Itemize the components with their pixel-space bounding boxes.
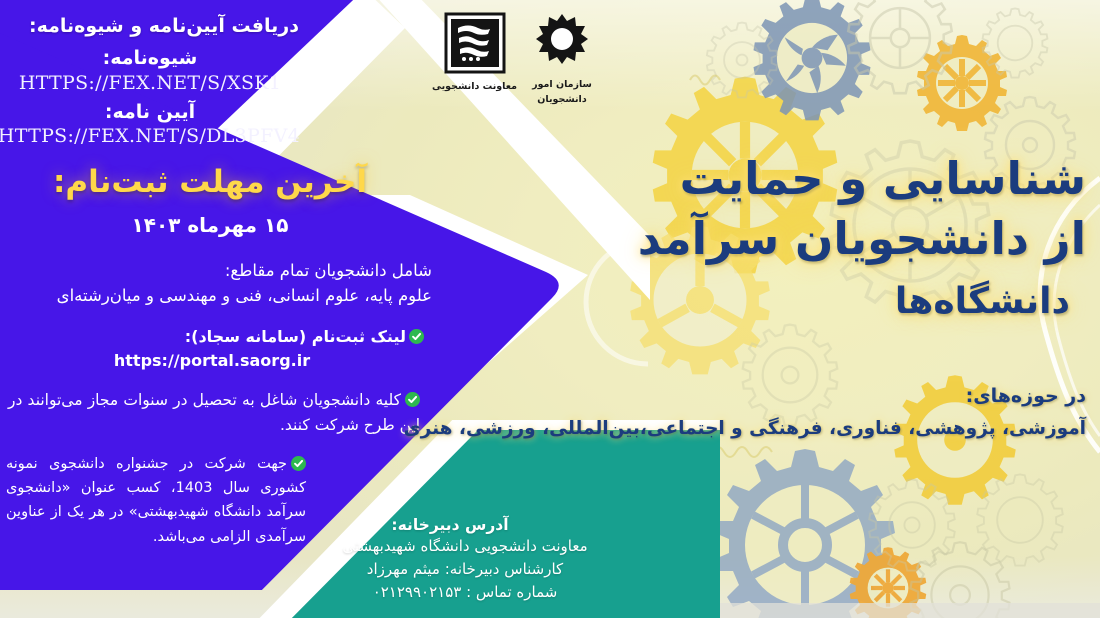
saorg-logo-caption-line2: دانشجویان [530,94,594,106]
contact-line-1: معاونت دانشجویی دانشگاه شهیدبهشتی [300,534,630,558]
main-title-line-2: از دانشجویان سرآمد [616,212,1086,267]
bullet-eligibility-text: کلیه دانشجویان شاغل به تحصیل در سنوات مج… [8,391,420,434]
check-circle-icon [405,391,420,406]
sbu-logo-caption: معاونت دانشجویی [432,81,517,93]
areas-list: آموزشی، پژوهشی، فناوری، فرهنگی و اجتماعی… [404,418,1086,439]
contact-line-3: شماره تماس : ۰۲۱۲۹۹۰۲۱۵۳ [300,580,630,604]
bullet-registration-link: لینک ثبت‌نام (سامانه سجاد): [0,326,424,348]
deadline-date: ۱۵ مهرماه ۱۴۰۳ [0,212,420,239]
areas-label: در حوزه‌های: [786,385,1086,407]
guideline-url[interactable]: HTTPS://FEX.NET/S/XSK1 [0,71,300,97]
bullet-festival-requirement-text: جهت شرکت در جشنواره دانشجوی نمونه کشوری … [6,456,306,545]
contact-line-2: کارشناس دبیرخانه: میثم مهرزاد [300,557,630,581]
scope-line-2: علوم پایه، علوم انسانی، فنی و مهندسی و م… [0,283,432,309]
scope-line-1: شامل دانشجویان تمام مقاطع: [0,258,432,284]
deadline-heading: آخرین مهلت ثبت‌نام: [0,162,420,204]
regulation-url[interactable]: HTTPS://FEX.NET/S/DL3PFV4 [0,124,300,150]
poster-root: معاونت دانشجویی سازمان امور دانشجویان در… [0,0,1100,618]
shahid-beheshti-university-logo: معاونت دانشجویی [432,12,517,93]
student-affairs-organization-logo: سازمان امور دانشجویان [530,10,594,107]
main-title-line-3: دانشگاه‌ها [620,280,1070,324]
guideline-label: شیوه‌نامه: [0,46,300,72]
saorg-emblem-icon [530,10,594,72]
saorg-logo-caption-line1: سازمان امور [530,79,594,91]
main-title-line-1: شناسایی و حمایت [616,152,1086,207]
sbu-emblem-icon [444,12,506,74]
download-heading: دریافت آیین‌نامه و شیوه‌نامه: [0,14,328,40]
bullet-registration-link-label: لینک ثبت‌نام (سامانه سجاد): [185,327,406,346]
check-circle-icon [291,455,306,470]
bullet-festival-requirement: جهت شرکت در جشنواره دانشجوی نمونه کشوری … [6,452,306,549]
bullet-eligibility: کلیه دانشجویان شاغل به تحصیل در سنوات مج… [8,388,420,438]
regulation-label: آیین نامه: [0,100,300,126]
registration-portal-url[interactable]: https://portal.saorg.ir [0,350,424,372]
check-circle-icon [409,328,424,343]
